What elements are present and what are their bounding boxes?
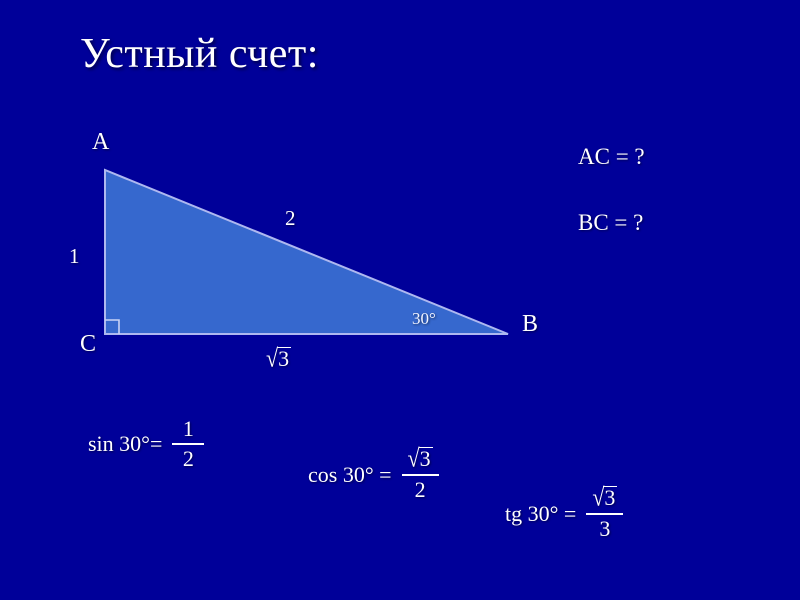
formula-cos30-numerator: √3 <box>402 448 439 474</box>
vertex-label-a: A <box>92 130 109 154</box>
radical-body: 3 <box>603 486 617 509</box>
formula-cos30-denominator: 2 <box>409 476 432 501</box>
formula-sin30-numerator: 1 <box>177 418 200 443</box>
formula-sin30-fraction: 1 2 <box>172 418 204 470</box>
formula-cos30: cos 30° = √3 2 <box>308 448 439 501</box>
formula-tg30: tg 30° = √3 3 <box>505 487 623 540</box>
formula-sin30-denominator: 2 <box>177 445 200 470</box>
angle-label-b: 30° <box>412 310 436 327</box>
formula-cos30-lhs: cos 30° = <box>308 464 392 486</box>
radical-sqrt3-side: √3 <box>266 348 291 371</box>
side-label-cb: √3 <box>266 348 291 371</box>
formula-sin30: sin 30°= 1 2 <box>88 418 204 470</box>
vertex-label-b: B <box>522 312 538 336</box>
formula-tg30-numerator: √3 <box>586 487 623 513</box>
radical-sqrt3-tg: √3 <box>592 487 617 510</box>
triangle-shape <box>105 170 508 334</box>
radical-body: 3 <box>277 347 291 370</box>
radical-sqrt3-cos: √3 <box>408 448 433 471</box>
vertex-label-c: C <box>80 332 96 356</box>
radical-body: 3 <box>419 447 433 470</box>
side-label-ac: 1 <box>69 246 80 267</box>
formula-sin30-lhs: sin 30°= <box>88 433 162 455</box>
formula-tg30-lhs: tg 30° = <box>505 503 576 525</box>
question-ac: AC = ? <box>578 145 645 168</box>
formula-tg30-fraction: √3 3 <box>586 487 623 540</box>
question-bc: BC = ? <box>578 211 643 234</box>
triangle-figure <box>0 0 800 600</box>
side-label-ab: 2 <box>285 208 296 229</box>
slide-canvas: Устный счет: A C B 1 2 √3 30° AC = ? BC … <box>0 0 800 600</box>
formula-tg30-denominator: 3 <box>593 515 616 540</box>
formula-cos30-fraction: √3 2 <box>402 448 439 501</box>
